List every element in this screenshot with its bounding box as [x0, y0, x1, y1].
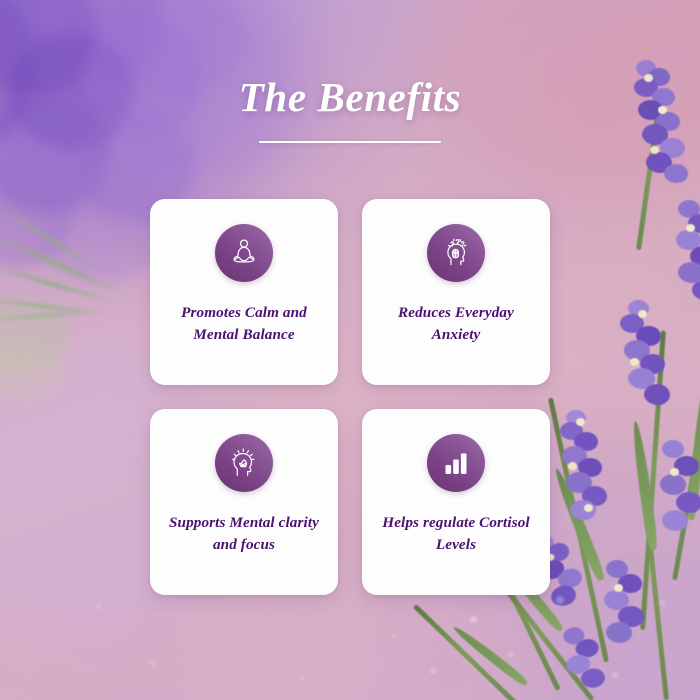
- icon-badge: [427, 434, 485, 492]
- header: The Benefits: [0, 76, 700, 143]
- benefit-label: Reduces Everyday Anxiety: [362, 302, 550, 346]
- benefit-label: Helps regulate Cortisol Levels: [362, 512, 550, 556]
- page-title: The Benefits: [0, 76, 700, 119]
- title-divider: [259, 141, 441, 143]
- head-with-lotus-icon: [227, 446, 261, 480]
- benefit-label: Promotes Calm and Mental Balance: [150, 302, 338, 346]
- benefit-label: Supports Mental clarity and focus: [150, 512, 338, 556]
- benefit-card-cortisol-levels[interactable]: Helps regulate Cortisol Levels: [362, 409, 550, 595]
- benefit-card-reduces-anxiety[interactable]: Reduces Everyday Anxiety: [362, 199, 550, 385]
- icon-badge: [427, 224, 485, 282]
- bar-chart-icon: [441, 448, 471, 478]
- meditation-lotus-pose-icon: [227, 236, 261, 270]
- benefit-card-promotes-calm[interactable]: Promotes Calm and Mental Balance: [150, 199, 338, 385]
- benefits-grid: Promotes Calm and Mental Balance: [150, 199, 550, 595]
- anxious-head-icon: [439, 236, 473, 270]
- icon-badge: [215, 224, 273, 282]
- benefit-card-mental-clarity[interactable]: Supports Mental clarity and focus: [150, 409, 338, 595]
- benefits-poster: The Benefits: [0, 0, 700, 700]
- icon-badge: [215, 434, 273, 492]
